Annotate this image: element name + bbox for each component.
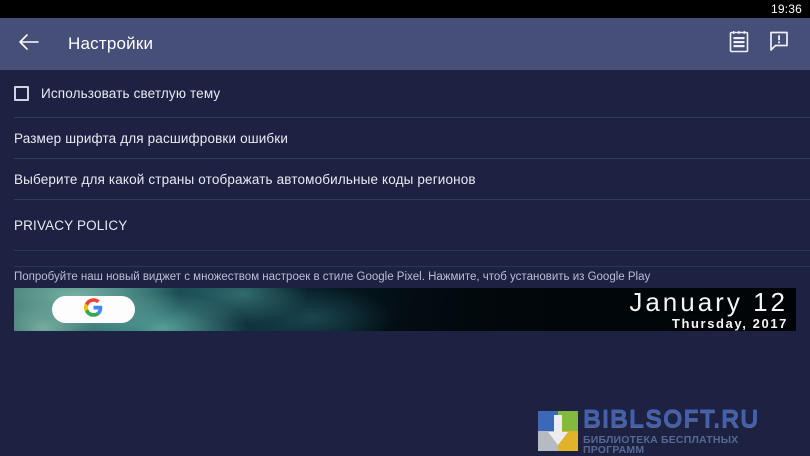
watermark-text: BIBLSOFT.RU БИБЛИОТЕКА БЕСПЛАТНЫХ ПРОГРА… bbox=[583, 407, 802, 456]
pixel-widget-preview[interactable]: January 12 Thursday, 2017 bbox=[14, 288, 796, 331]
setting-label-region-codes-country: Выберите для какой страны отображать авт… bbox=[14, 172, 476, 187]
download-arrow-icon bbox=[546, 415, 570, 447]
widget-date-block: January 12 Thursday, 2017 bbox=[629, 289, 788, 331]
page-title: Настройки bbox=[68, 34, 153, 54]
feedback-button[interactable] bbox=[762, 27, 796, 61]
setting-label-font-size: Размер шрифта для расшифровки ошибки bbox=[14, 131, 288, 146]
google-g-icon bbox=[84, 298, 103, 322]
widget-promo-text[interactable]: Попробуйте наш новый виджет с множеством… bbox=[0, 267, 810, 287]
widget-promo-banner[interactable]: January 12 Thursday, 2017 bbox=[14, 288, 796, 331]
status-bar-clock: 19:36 bbox=[771, 0, 802, 18]
google-search-pill[interactable] bbox=[52, 296, 135, 323]
speech-bubble-exclamation-icon bbox=[769, 31, 789, 57]
status-bar: 19:36 bbox=[0, 0, 810, 18]
light-theme-checkbox[interactable] bbox=[14, 86, 29, 101]
setting-row-font-size[interactable]: Размер шрифта для расшифровки ошибки bbox=[0, 118, 810, 158]
list-document-icon bbox=[729, 31, 749, 58]
app-bar: Настройки bbox=[0, 18, 810, 70]
list-spacer bbox=[0, 251, 810, 266]
arrow-left-icon bbox=[18, 33, 40, 56]
setting-row-privacy-policy[interactable]: PRIVACY POLICY bbox=[0, 200, 810, 250]
android-settings-screen: 19:36 Настройки bbox=[0, 0, 810, 456]
watermark-subtitle: БИБЛИОТЕКА БЕСПЛАТНЫХ ПРОГРАММ bbox=[583, 435, 802, 456]
setting-label-privacy-policy: PRIVACY POLICY bbox=[14, 218, 127, 233]
watermark-title: BIBLSOFT.RU bbox=[583, 407, 802, 432]
setting-row-region-codes-country[interactable]: Выберите для какой страны отображать авт… bbox=[0, 159, 810, 199]
widget-date-main: January 12 bbox=[629, 289, 788, 315]
back-button[interactable] bbox=[14, 29, 44, 59]
widget-date-sub: Thursday, 2017 bbox=[629, 316, 788, 331]
settings-list: Использовать светлую тему Размер шрифта … bbox=[0, 70, 810, 456]
biblsoft-download-logo bbox=[538, 411, 578, 451]
setting-row-light-theme[interactable]: Использовать светлую тему bbox=[0, 70, 810, 117]
changelog-button[interactable] bbox=[722, 27, 756, 61]
setting-label-light-theme: Использовать светлую тему bbox=[41, 86, 220, 101]
site-watermark: BIBLSOFT.RU БИБЛИОТЕКА БЕСПЛАТНЫХ ПРОГРА… bbox=[538, 409, 802, 453]
